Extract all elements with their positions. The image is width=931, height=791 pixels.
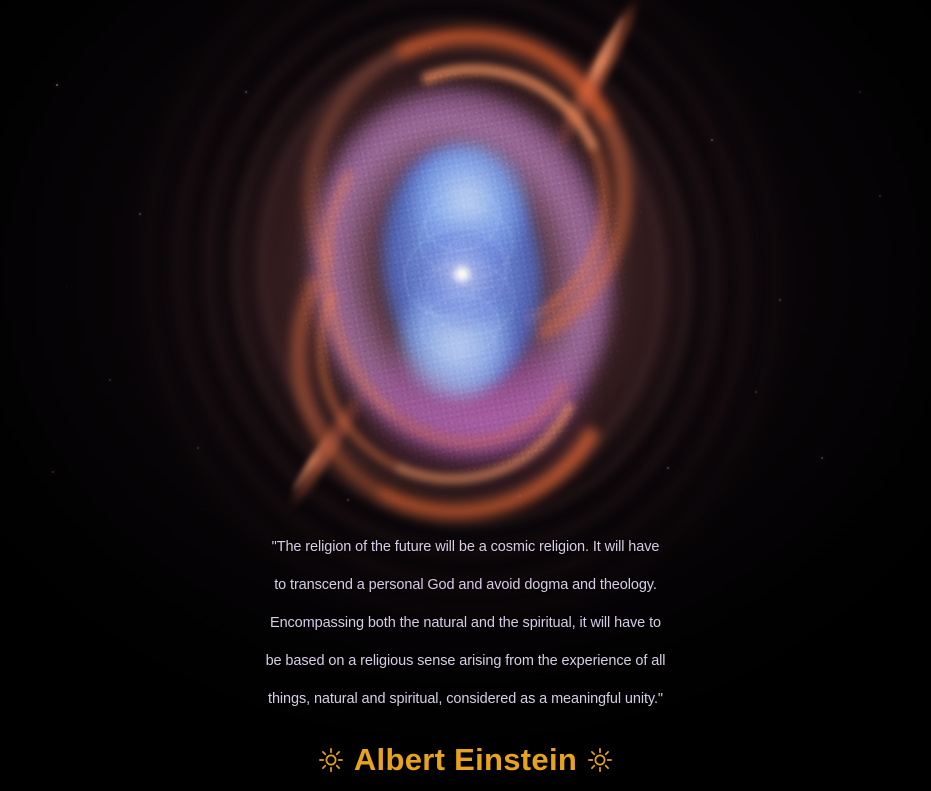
sun-icon	[588, 748, 612, 772]
author-name: Albert Einstein	[354, 742, 577, 778]
star	[109, 379, 110, 380]
star	[821, 457, 823, 459]
star	[879, 195, 880, 196]
quote-poster: "The religion of the future will be a co…	[0, 0, 931, 791]
attribution-inner: Albert Einstein	[319, 742, 612, 778]
quote-line: to transcend a personal God and avoid do…	[10, 566, 921, 604]
star	[52, 471, 54, 473]
quote-line: be based on a religious sense arising fr…	[10, 642, 921, 680]
quote-line: "The religion of the future will be a co…	[10, 528, 921, 566]
star	[139, 213, 140, 214]
attribution: Albert Einstein	[0, 742, 931, 778]
quote-text-block: "The religion of the future will be a co…	[0, 528, 931, 718]
star	[859, 91, 860, 92]
quote-line: Encompassing both the natural and the sp…	[10, 604, 921, 642]
quote-line: things, natural and spiritual, considere…	[10, 680, 921, 718]
star	[56, 84, 59, 87]
star	[66, 286, 67, 287]
sun-icon	[319, 748, 343, 772]
